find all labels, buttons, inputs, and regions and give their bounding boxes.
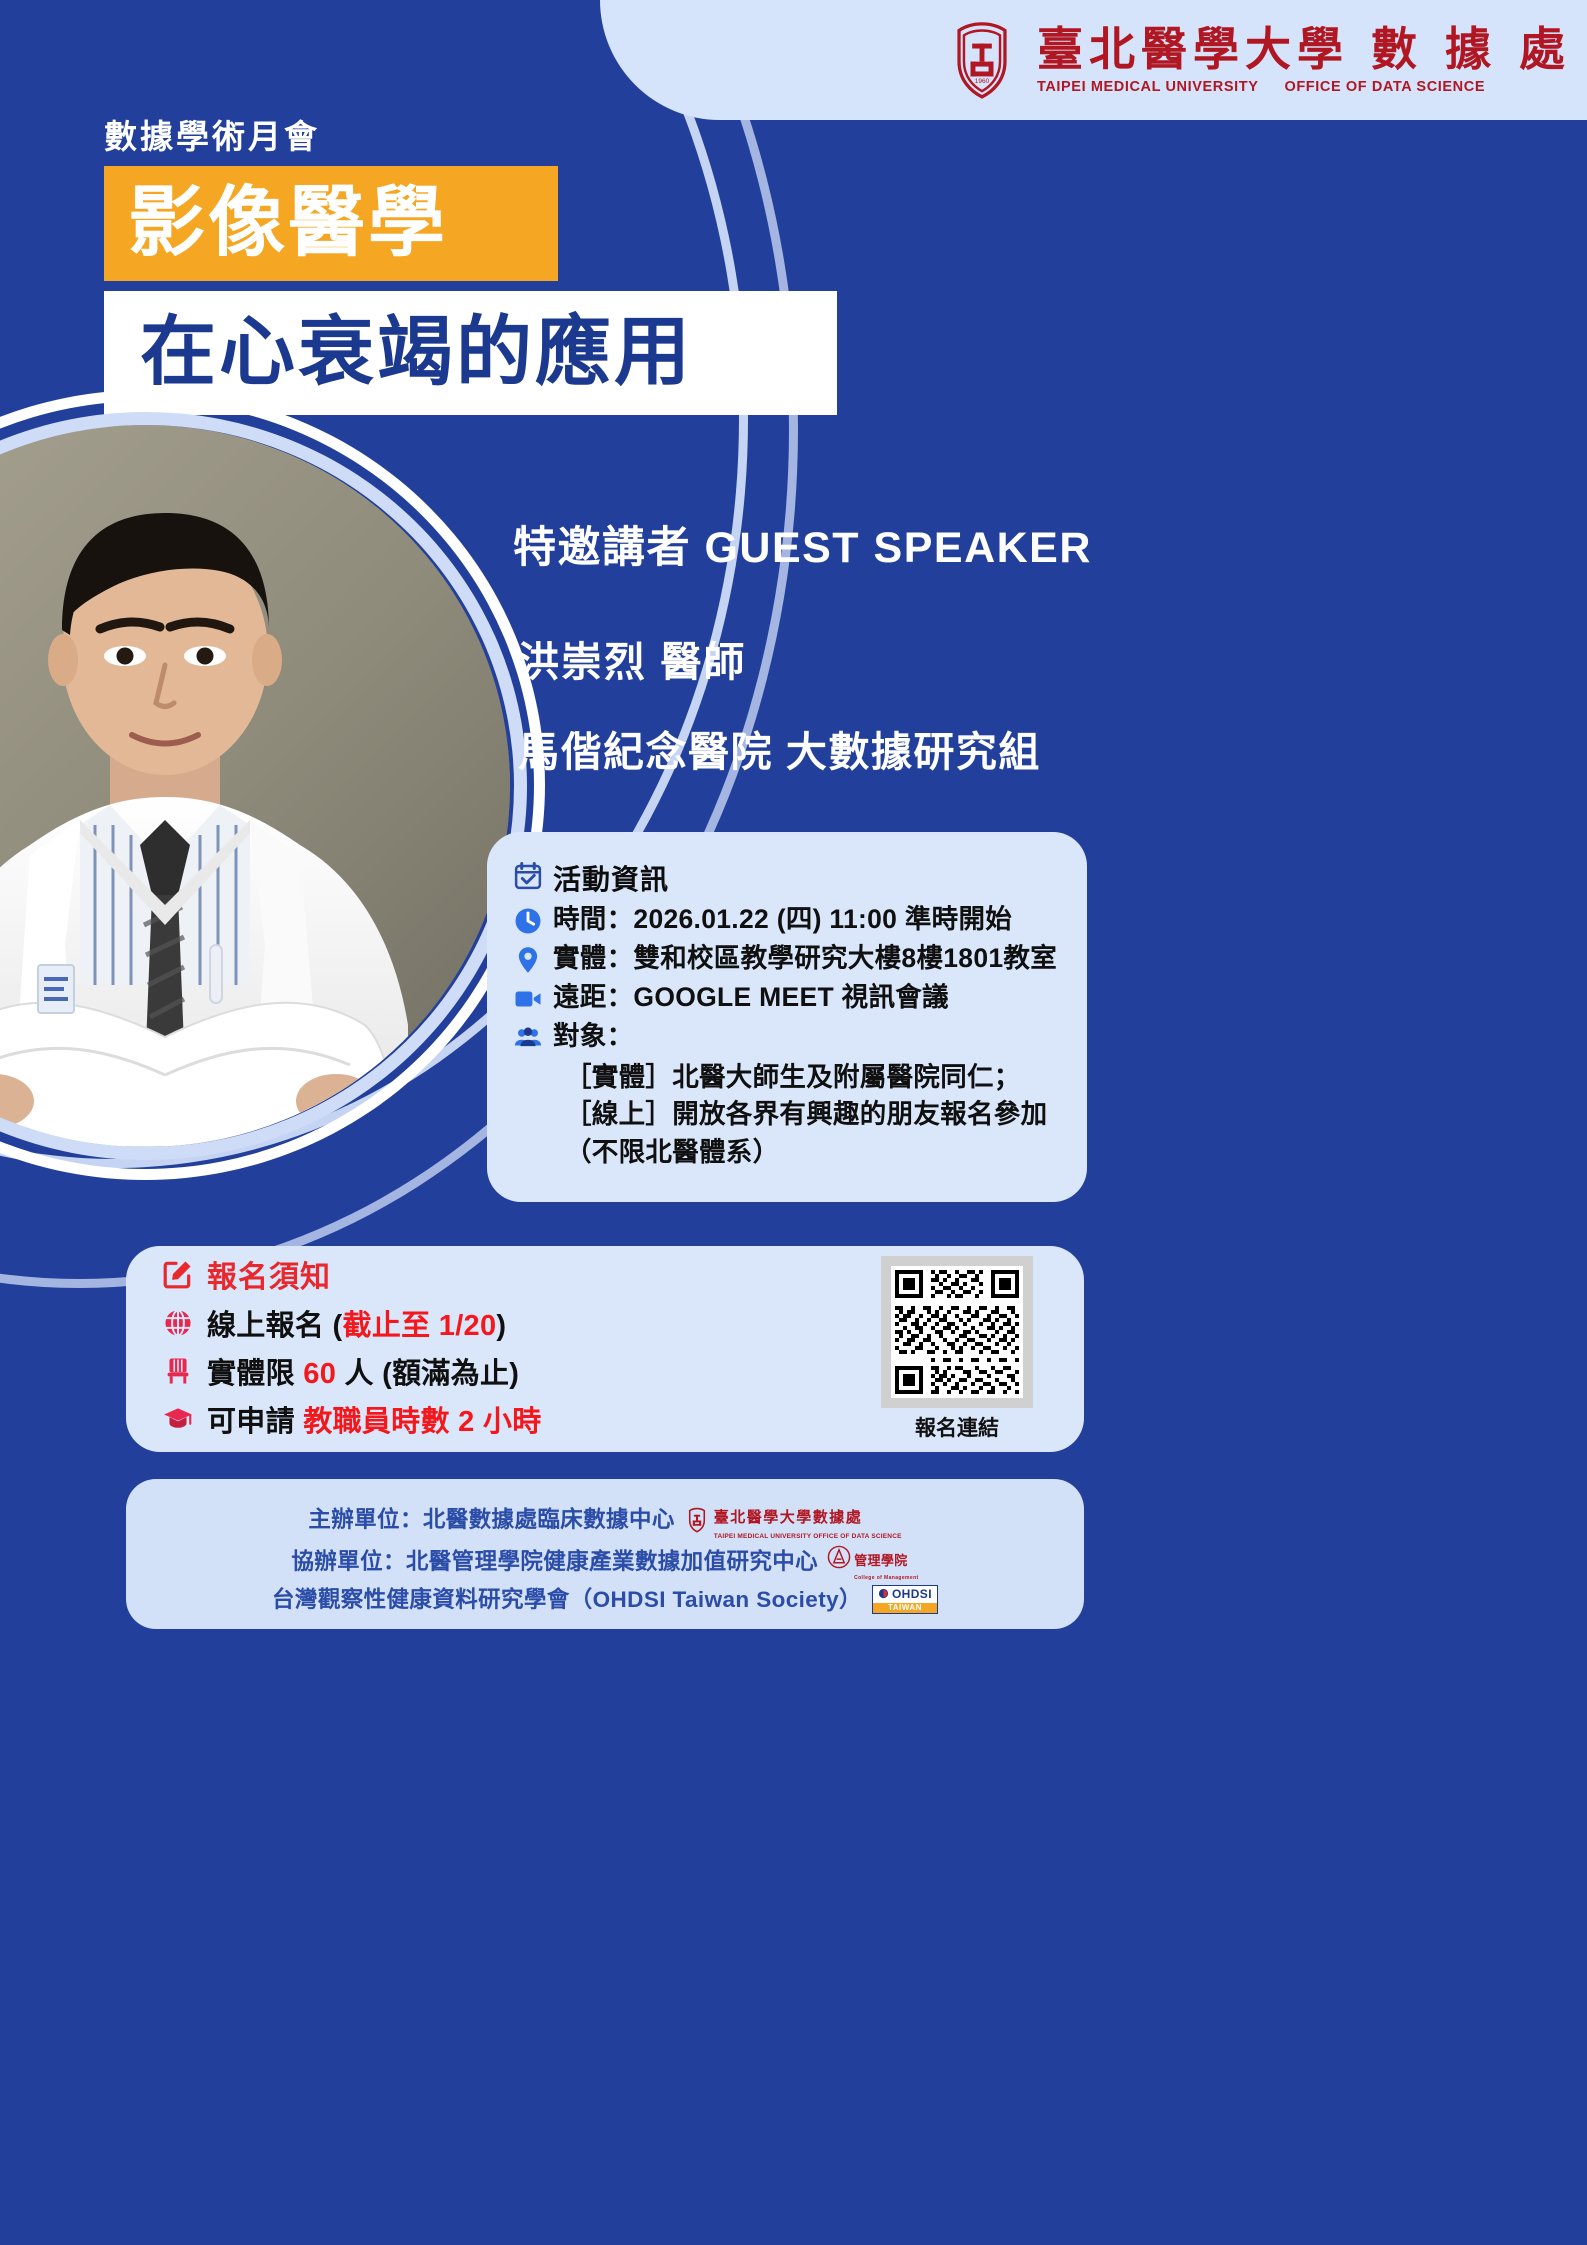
registration-online-close: ): [496, 1310, 506, 1342]
event-info-heading-row: 活動資訊: [513, 858, 1067, 898]
logo-en-office: OFFICE OF DATA SCIENCE: [1284, 79, 1485, 95]
ohdsi-logo-top: OHDSI: [873, 1586, 937, 1603]
footer-tmu-chinese: 臺北醫學大學數據處: [714, 1508, 863, 1526]
registration-deadline: 截止至 1/20: [343, 1310, 497, 1342]
tmu-logo: 1960 臺北醫學大學 數 據 處 TAIPEI MEDICAL UNIVERS…: [941, 19, 1579, 101]
event-time-label: 時間：: [553, 904, 633, 934]
registration-card: 報名須知 線上報名 (截止至 1/20): [126, 1246, 1084, 1452]
shield-year: 1960: [975, 78, 990, 85]
footer-society-line: 台灣觀察性健康資料研究學會（OHDSI Taiwan Society） OHDS…: [272, 1583, 938, 1617]
title-band-primary: 影像醫學: [104, 166, 558, 281]
poster-root: 1960 臺北醫學大學 數 據 處 TAIPEI MEDICAL UNIVERS…: [0, 0, 1587, 2245]
event-info-heading: 活動資訊: [553, 858, 669, 898]
series-eyebrow: 數據學術月會: [104, 110, 320, 158]
ohdsi-taiwan-logo: OHDSI TAIWAN: [872, 1585, 938, 1614]
registration-qr-block[interactable]: 報名連結: [864, 1256, 1050, 1442]
logo-english-name: TAIPEI MEDICAL UNIVERSITYOFFICE OF DATA …: [1037, 79, 1485, 95]
event-remote-label: 遠距：: [553, 982, 633, 1012]
footer-cohost-text: 協辦單位：北醫管理學院健康產業數據加值研究中心: [291, 1545, 818, 1579]
event-time-row: 時間：2026.01.22 (四) 11:00 準時開始: [513, 903, 1067, 937]
ohdsi-label: OHDSI: [892, 1588, 932, 1600]
event-audience-label: 對象：: [553, 1020, 633, 1054]
footer-management-chinese: 管理學院: [854, 1553, 908, 1568]
logo-en-university: TAIPEI MEDICAL UNIVERSITY: [1037, 79, 1259, 95]
video-camera-icon: [513, 984, 545, 1014]
registration-seats-suffix: 人 (額滿為止): [336, 1358, 519, 1390]
calendar-check-icon: [513, 861, 545, 891]
registration-online-label: 線上報名 (: [207, 1310, 343, 1342]
footer-cohost-line: 協辦單位：北醫管理學院健康產業數據加值研究中心 管理學院 College of …: [291, 1541, 918, 1582]
registration-title-row: 報名須知: [162, 1252, 864, 1296]
event-venue-row: 實體：雙和校區教學研究大樓8樓1801教室: [513, 942, 1067, 976]
footer-host-text: 主辦單位：北醫數據處臨床數據中心: [308, 1503, 674, 1537]
event-audience-line-3: （不限北醫體系）: [565, 1134, 1067, 1172]
logo-chinese-name: 臺北醫學大學 數 據 處: [1037, 26, 1571, 72]
registration-credit-prefix: 可申請: [207, 1406, 303, 1438]
header-logo-bar: 1960 臺北醫學大學 數 據 處 TAIPEI MEDICAL UNIVERS…: [600, 0, 1587, 120]
event-audience-row: 對象：: [513, 1020, 1067, 1054]
event-info-card: 活動資訊 時間：2026.01.22 (四) 11:00 準時開始 實體：雙和校…: [487, 832, 1087, 1202]
footer-tmu-logo: 臺北醫學大學數據處 TAIPEI MEDICAL UNIVERSITY OFFI…: [684, 1498, 902, 1542]
clock-icon: [513, 906, 545, 936]
registration-title: 報名須知: [207, 1252, 331, 1296]
speaker-name: 洪崇烈 醫師: [518, 628, 746, 688]
registration-credit-value: 教職員時數 2 小時: [303, 1406, 541, 1438]
globe-icon: [162, 1307, 196, 1339]
management-shield-icon: [827, 1545, 851, 1579]
guest-speaker-label: 特邀講者 GUEST SPEAKER: [513, 513, 1092, 575]
ohdsi-mark-icon: [878, 1588, 889, 1601]
footer-tmu-shield-icon: [684, 1507, 710, 1533]
footer-society-text: 台灣觀察性健康資料研究學會（OHDSI Taiwan Society）: [272, 1583, 862, 1617]
title-line-1: 影像醫學: [128, 185, 448, 262]
chair-icon: [162, 1355, 196, 1387]
registration-details: 報名須知 線上報名 (截止至 1/20): [126, 1252, 864, 1446]
qr-caption: 報名連結: [915, 1412, 999, 1442]
footer-tmu-english: TAIPEI MEDICAL UNIVERSITY OFFICE OF DATA…: [714, 1532, 902, 1542]
registration-seats-row: 實體限 60 人 (額滿為止): [162, 1350, 864, 1392]
footer-management-college-logo: 管理學院 College of Management: [827, 1541, 919, 1582]
graduation-cap-icon: [162, 1403, 196, 1435]
event-remote-row: 遠距：GOOGLE MEET 視訊會議: [513, 981, 1067, 1015]
ohdsi-region-label: TAIWAN: [873, 1603, 937, 1613]
registration-seats-prefix: 實體限: [207, 1358, 303, 1390]
event-audience-line-1: ［實體］北醫大師生及附屬醫院同仁；: [565, 1059, 1067, 1097]
registration-seat-count: 60: [303, 1358, 336, 1390]
speaker-organization: 馬偕紀念醫院 大數據研究組: [518, 718, 1041, 778]
event-venue-value: 雙和校區教學研究大樓8樓1801教室: [633, 943, 1057, 973]
tmu-shield-icon: 1960: [941, 19, 1023, 101]
footer-host-line: 主辦單位：北醫數據處臨床數據中心 臺北醫學大學數據處 TAIPEI: [308, 1498, 901, 1542]
footer-tmu-text: 臺北醫學大學數據處 TAIPEI MEDICAL UNIVERSITY OFFI…: [714, 1498, 902, 1542]
footer-management-text: 管理學院 College of Management: [854, 1541, 919, 1582]
event-venue-label: 實體：: [553, 943, 633, 973]
title-line-2: 在心衰竭的應用: [140, 315, 693, 391]
people-group-icon: [513, 1023, 545, 1053]
location-pin-icon: [513, 945, 545, 975]
event-remote-value: GOOGLE MEET 視訊會議: [633, 982, 948, 1012]
edit-form-icon: [162, 1258, 196, 1290]
registration-credit-row: 可申請 教職員時數 2 小時: [162, 1398, 864, 1440]
qr-code[interactable]: [881, 1256, 1033, 1408]
footer-card: 主辦單位：北醫數據處臨床數據中心 臺北醫學大學數據處 TAIPEI: [126, 1479, 1084, 1629]
event-time-value: 2026.01.22 (四) 11:00 準時開始: [633, 904, 1012, 934]
event-audience-line-2: ［線上］開放各界有興趣的朋友報名參加: [565, 1096, 1067, 1134]
footer-management-english: College of Management: [854, 1575, 919, 1583]
registration-online-row: 線上報名 (截止至 1/20): [162, 1302, 864, 1344]
logo-text-block: 臺北醫學大學 數 據 處 TAIPEI MEDICAL UNIVERSITYOF…: [1037, 26, 1571, 95]
